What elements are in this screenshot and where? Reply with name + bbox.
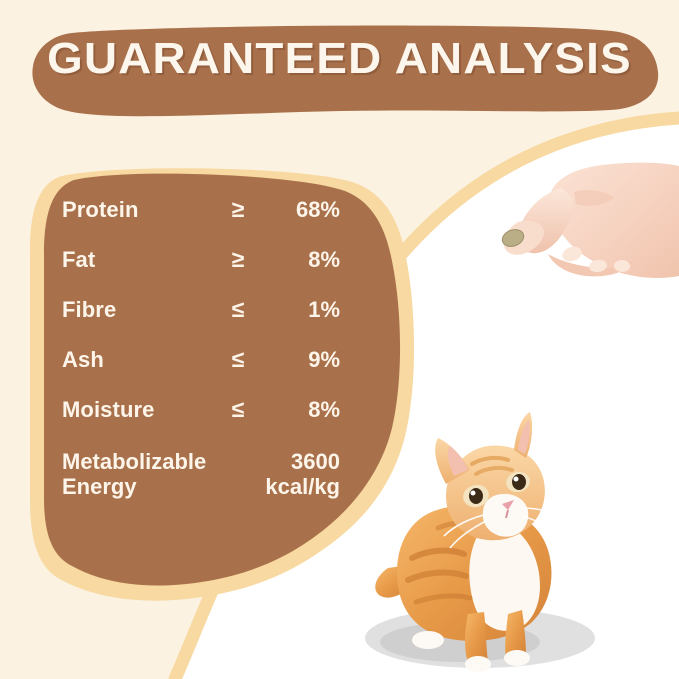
analysis-table: Protein ≥ 68% Fat ≥ 8% Fibre ≤ 1% Ash ≤ … [62, 196, 340, 512]
nutrient-value: 8% [266, 247, 340, 273]
energy-label-line1: Metabolizable [62, 449, 206, 474]
page-title: GUARANTEED ANALYSIS [0, 34, 679, 84]
table-row: Ash ≤ 9% [62, 346, 340, 396]
banner: GUARANTEED ANALYSIS [0, 0, 679, 140]
table-row: Fibre ≤ 1% [62, 296, 340, 346]
energy-label-line2: Energy [62, 474, 137, 499]
energy-value-line1: 3600 [291, 449, 340, 474]
nutrient-value: 8% [266, 397, 340, 423]
energy-label: MetabolizableEnergy [62, 450, 232, 499]
guaranteed-analysis-infographic: GUARANTEED ANALYSIS Protein ≥ 68% Fat ≥ … [0, 0, 679, 679]
nutrient-label: Ash [62, 347, 210, 373]
comparison-operator: ≥ [210, 196, 266, 223]
energy-value: 3600kcal/kg [232, 450, 340, 499]
comparison-operator: ≤ [210, 346, 266, 373]
table-row-energy: MetabolizableEnergy 3600kcal/kg [62, 450, 340, 512]
nutrient-label: Fat [62, 247, 210, 273]
energy-value-line2: kcal/kg [265, 474, 340, 499]
hand-holding-treat-image [488, 158, 679, 303]
nutrient-value: 68% [266, 197, 340, 223]
comparison-operator: ≥ [210, 246, 266, 273]
table-row: Moisture ≤ 8% [62, 396, 340, 446]
cat-image [372, 408, 622, 673]
nutrient-value: 9% [266, 347, 340, 373]
comparison-operator: ≤ [210, 296, 266, 323]
table-row: Protein ≥ 68% [62, 196, 340, 246]
comparison-operator: ≤ [210, 396, 266, 423]
nutrient-label: Protein [62, 197, 210, 223]
nutrient-label: Moisture [62, 397, 210, 423]
nutrient-label: Fibre [62, 297, 210, 323]
table-row: Fat ≥ 8% [62, 246, 340, 296]
nutrient-value: 1% [266, 297, 340, 323]
